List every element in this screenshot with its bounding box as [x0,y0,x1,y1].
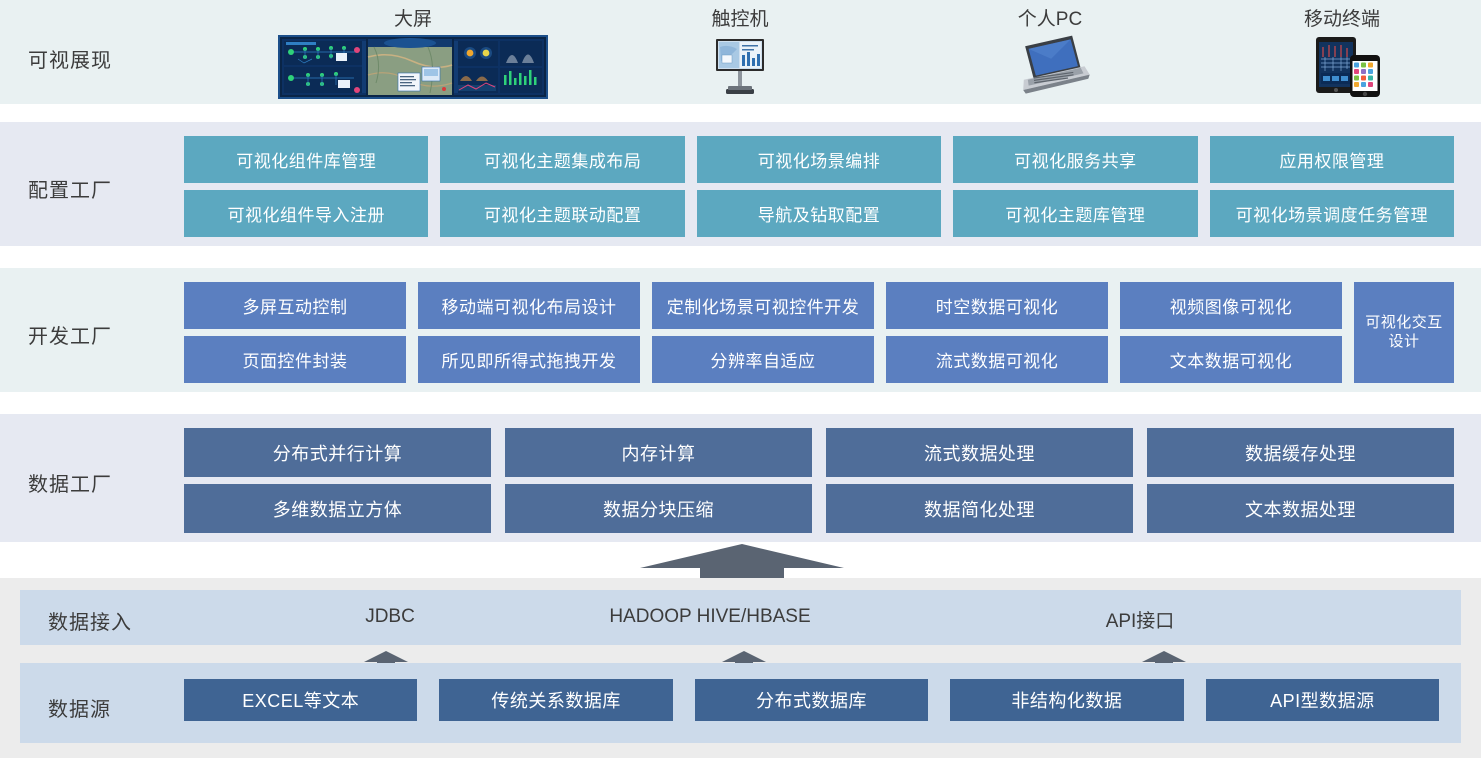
data-source-cell[interactable]: API型数据源 [1206,679,1439,721]
row-label-data-access: 数据接入 [48,606,132,635]
develop-cell[interactable]: 多屏互动控制 [184,282,406,329]
develop-cell[interactable]: 流式数据可视化 [886,336,1108,383]
data-source-cell[interactable]: 传统关系数据库 [439,679,672,721]
data-access-band: 数据接入 JDBC HADOOP HIVE/HBASE API接口 [20,590,1461,645]
data-source-cell[interactable]: 分布式数据库 [695,679,928,721]
device-caption-personal-pc: 个人PC [965,4,1135,31]
datafactory-cell[interactable]: 流式数据处理 [826,428,1133,477]
datafactory-cell[interactable]: 数据简化处理 [826,484,1133,533]
data-factory-row-1: 分布式并行计算 内存计算 流式数据处理 数据缓存处理 [184,428,1454,477]
datafactory-cell[interactable]: 内存计算 [505,428,812,477]
device-caption-mobile-terminal: 移动终端 [1262,4,1422,31]
config-cell[interactable]: 可视化主题联动配置 [440,190,684,237]
row-label-configuration-factory: 配置工厂 [28,174,112,203]
data-source-cell[interactable]: EXCEL等文本 [184,679,417,721]
datafactory-cell[interactable]: 多维数据立方体 [184,484,491,533]
device-large-display: 大屏 [278,4,548,104]
config-cell[interactable]: 可视化服务共享 [953,136,1197,183]
data-source-band: 数据源 EXCEL等文本 传统关系数据库 分布式数据库 非结构化数据 API型数… [20,663,1461,743]
row-data-access-and-source: 数据接入 JDBC HADOOP HIVE/HBASE API接口 数据源 EX… [0,578,1481,758]
config-cell[interactable]: 可视化场景调度任务管理 [1210,190,1454,237]
data-factory-row-2: 多维数据立方体 数据分块压缩 数据简化处理 文本数据处理 [184,484,1454,533]
development-factory-row-2: 页面控件封装 所见即所得式拖拽开发 分辨率自适应 流式数据可视化 文本数据可视化 [184,336,1342,383]
architecture-diagram: 可视展现 大屏 [0,0,1481,758]
row-label-development-factory: 开发工厂 [28,320,112,349]
config-cell[interactable]: 可视化主题集成布局 [440,136,684,183]
row-visual-presentation: 可视展现 大屏 [0,0,1481,104]
row-data-factory: 数据工厂 分布式并行计算 内存计算 流式数据处理 数据缓存处理 多维数据立方体 … [0,414,1481,542]
configuration-factory-row-1: 可视化组件库管理 可视化主题集成布局 可视化场景编排 可视化服务共享 应用权限管… [184,136,1454,183]
config-cell[interactable]: 可视化组件库管理 [184,136,428,183]
data-factory-grid: 分布式并行计算 内存计算 流式数据处理 数据缓存处理 多维数据立方体 数据分块压… [184,428,1454,533]
configuration-factory-grid: 可视化组件库管理 可视化主题集成布局 可视化场景编排 可视化服务共享 应用权限管… [184,136,1454,237]
develop-cell[interactable]: 页面控件封装 [184,336,406,383]
data-source-list: EXCEL等文本 传统关系数据库 分布式数据库 非结构化数据 API型数据源 [184,679,1439,721]
data-source-cell[interactable]: 非结构化数据 [950,679,1183,721]
device-caption-large-display: 大屏 [278,4,548,31]
development-factory-row-1: 多屏互动控制 移动端可视化布局设计 定制化场景可视控件开发 时空数据可视化 视频… [184,282,1342,329]
configuration-factory-row-2: 可视化组件导入注册 可视化主题联动配置 导航及钻取配置 可视化主题库管理 可视化… [184,190,1454,237]
config-cell[interactable]: 可视化组件导入注册 [184,190,428,237]
datafactory-cell[interactable]: 分布式并行计算 [184,428,491,477]
large-display-wall-icon [278,35,548,104]
touch-kiosk-icon [660,35,820,104]
datafactory-cell[interactable]: 数据缓存处理 [1147,428,1454,477]
row-development-factory: 开发工厂 多屏互动控制 移动端可视化布局设计 定制化场景可视控件开发 时空数据可… [0,268,1481,392]
device-personal-pc: 个人PC [965,4,1135,100]
row-label-visual-presentation: 可视展现 [28,44,112,73]
device-caption-touch-kiosk: 触控机 [660,4,820,31]
config-cell[interactable]: 应用权限管理 [1210,136,1454,183]
develop-cell[interactable]: 文本数据可视化 [1120,336,1342,383]
develop-cell[interactable]: 定制化场景可视控件开发 [652,282,874,329]
row-label-data-source: 数据源 [48,693,111,722]
develop-cell[interactable]: 视频图像可视化 [1120,282,1342,329]
device-mobile-terminal: 移动终端 [1262,4,1422,104]
development-factory-main-cells: 多屏互动控制 移动端可视化布局设计 定制化场景可视控件开发 时空数据可视化 视频… [184,282,1342,383]
row-label-data-factory: 数据工厂 [28,468,112,497]
datafactory-cell[interactable]: 文本数据处理 [1147,484,1454,533]
config-cell[interactable]: 导航及钻取配置 [697,190,941,237]
data-access-item-hadoop[interactable]: HADOOP HIVE/HBASE [550,606,870,628]
develop-cell[interactable]: 所见即所得式拖拽开发 [418,336,640,383]
data-access-item-jdbc[interactable]: JDBC [280,606,500,628]
row-configuration-factory: 配置工厂 可视化组件库管理 可视化主题集成布局 可视化场景编排 可视化服务共享 … [0,122,1481,246]
config-cell[interactable]: 可视化主题库管理 [953,190,1197,237]
tablet-phone-icon [1262,35,1422,104]
data-access-item-api[interactable]: API接口 [1030,606,1250,633]
datafactory-cell[interactable]: 数据分块压缩 [505,484,812,533]
laptop-icon [965,35,1135,100]
develop-cell[interactable]: 时空数据可视化 [886,282,1108,329]
develop-cell[interactable]: 分辨率自适应 [652,336,874,383]
device-touch-kiosk: 触控机 [660,4,820,104]
develop-cell-interaction-design[interactable]: 可视化交互设计 [1354,282,1454,383]
development-factory-grid: 多屏互动控制 移动端可视化布局设计 定制化场景可视控件开发 时空数据可视化 视频… [184,282,1454,383]
develop-cell[interactable]: 移动端可视化布局设计 [418,282,640,329]
config-cell[interactable]: 可视化场景编排 [697,136,941,183]
